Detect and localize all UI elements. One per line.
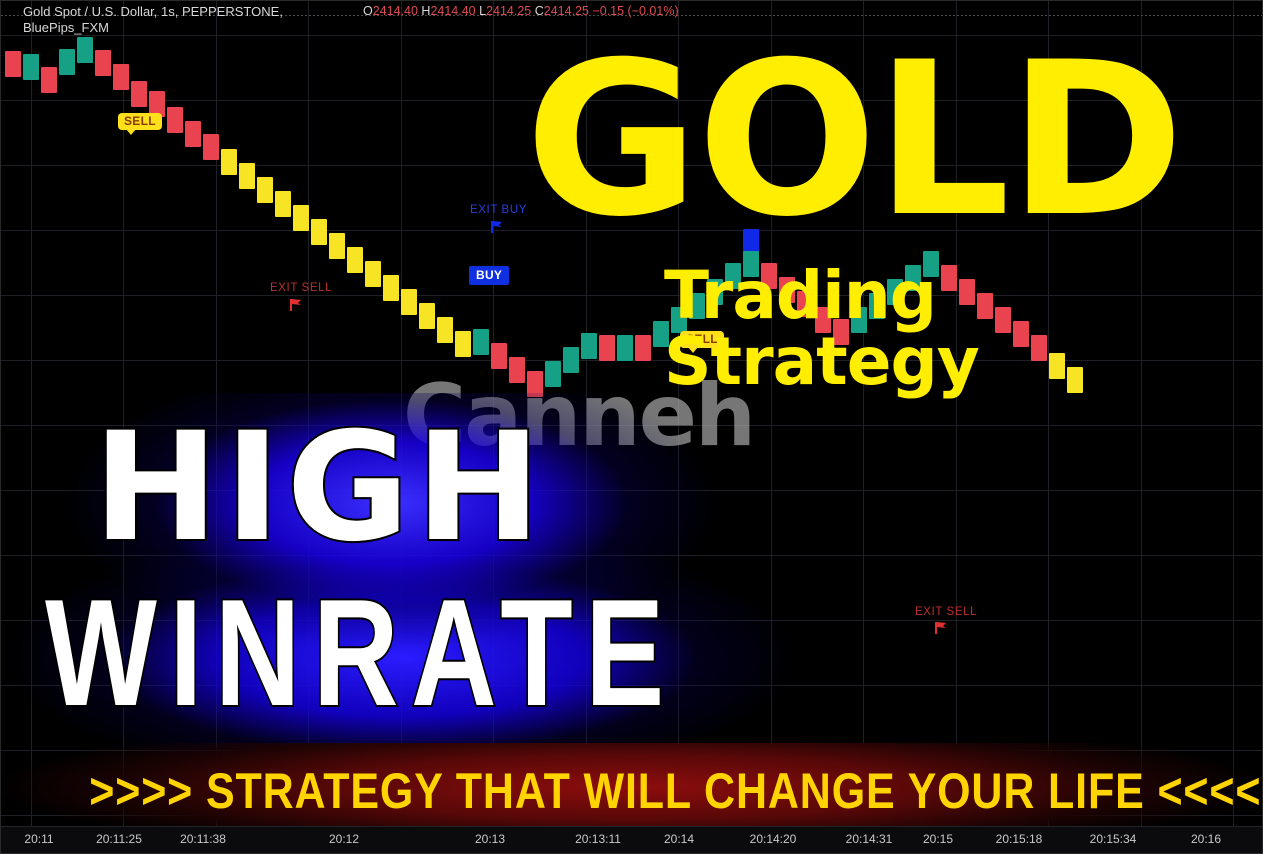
candle-red: [203, 134, 219, 160]
time-axis-tick: 20:12: [329, 832, 359, 846]
candle-red: [167, 107, 183, 133]
subtitle-trading-strategy: Trading Strategy: [664, 263, 1262, 395]
exit-buy-label: EXIT BUY: [470, 204, 527, 216]
candle-yellow: [455, 331, 471, 357]
candle-red: [635, 335, 651, 361]
time-axis-tick: 20:15: [923, 832, 953, 846]
candle-yellow: [257, 177, 273, 203]
candle-yellow: [221, 149, 237, 175]
candle-yellow: [401, 289, 417, 315]
time-axis-tick: 20:15:34: [1090, 832, 1137, 846]
candle-yellow: [329, 233, 345, 259]
candle-green: [77, 37, 93, 63]
candle-red: [95, 50, 111, 76]
candle-yellow: [365, 261, 381, 287]
candle-red: [5, 51, 21, 77]
candle-yellow: [311, 219, 327, 245]
ohlc-h-value: 2414.40: [430, 4, 475, 18]
symbol-title-line1[interactable]: Gold Spot / U.S. Dollar, 1s, PEPPERSTONE…: [23, 4, 283, 19]
candle-green: [617, 335, 633, 361]
time-axis-tick: 20:16: [1191, 832, 1221, 846]
chart-screenshot-canvas: SELL EXIT SELL EXIT BUY BUY SELL EXIT SE…: [0, 0, 1263, 854]
candle-green: [581, 333, 597, 359]
time-axis-tick: 20:13:11: [575, 832, 621, 846]
time-axis-tick: 20:14:31: [846, 832, 893, 846]
time-axis-tick: 20:15:18: [996, 832, 1043, 846]
ohlc-o-value: 2414.40: [373, 4, 418, 18]
ohlc-o-label: O: [363, 4, 373, 18]
time-axis-tick: 20:14:20: [750, 832, 797, 846]
candle-green: [473, 329, 489, 355]
candle-yellow: [275, 191, 291, 217]
time-axis-tick: 20:11: [24, 832, 53, 846]
exit-buy-flag-icon: [490, 220, 504, 234]
exit-sell-flag-icon-2: [934, 621, 948, 635]
candle-red: [131, 81, 147, 107]
candle-green: [59, 49, 75, 75]
candle-yellow: [419, 303, 435, 329]
time-axis[interactable]: 20:1120:11:2520:11:3820:1220:1320:13:112…: [1, 826, 1262, 853]
ohlc-h-label: H: [421, 4, 430, 18]
exit-sell-label-2: EXIT SELL: [915, 606, 977, 618]
exit-sell-flag-icon: [289, 298, 303, 312]
candle-yellow: [293, 205, 309, 231]
bottom-banner-text: >>>> STRATEGY THAT WILL CHANGE YOUR LIFE…: [89, 761, 1173, 821]
candle-red: [185, 121, 201, 147]
symbol-title-line2[interactable]: BluePips_FXM: [23, 20, 109, 35]
candle-yellow: [239, 163, 255, 189]
headline-winrate: WINRATE: [45, 577, 677, 729]
page-title-gold: GOLD: [525, 34, 1182, 246]
time-axis-tick: 20:14: [664, 832, 694, 846]
time-axis-tick: 20:11:25: [96, 832, 142, 846]
candle-yellow: [437, 317, 453, 343]
ohlc-l-label: L: [479, 4, 486, 18]
headline-high: HIGH: [93, 413, 547, 563]
buy-signal-badge[interactable]: BUY: [469, 266, 509, 285]
grid-line-vertical: [1233, 1, 1234, 829]
candle-green: [23, 54, 39, 80]
exit-sell-label: EXIT SELL: [270, 282, 332, 294]
candle-red: [113, 64, 129, 90]
sell-signal-badge[interactable]: SELL: [118, 113, 162, 130]
time-axis-tick: 20:11:38: [180, 832, 226, 846]
candle-red: [599, 335, 615, 361]
candle-red: [41, 67, 57, 93]
candle-yellow: [347, 247, 363, 273]
candle-yellow: [383, 275, 399, 301]
time-axis-tick: 20:13: [475, 832, 505, 846]
